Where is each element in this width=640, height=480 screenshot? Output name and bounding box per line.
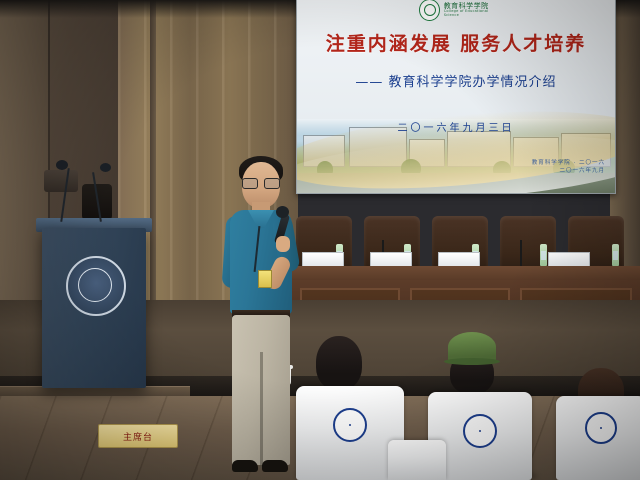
chair-crest-icon [585, 412, 617, 444]
speaker-person [214, 152, 306, 480]
table-microphone [520, 240, 522, 266]
photo-scene: 教育科学学院 College of Educational Science 注重… [0, 0, 640, 480]
slide-footer-line-2: 二〇一六年九月 [532, 167, 605, 175]
water-bottle [612, 244, 619, 266]
podium: 主席台 [42, 228, 146, 388]
audience-chair-cover [388, 440, 446, 480]
podium-nameplate: 主席台 [98, 424, 178, 448]
id-badge [258, 270, 272, 288]
door-frame [150, 0, 156, 318]
speaker-trouser-seam [260, 352, 263, 468]
speaker-shoe [262, 460, 288, 472]
water-bottle [540, 244, 547, 266]
university-emblem-icon [66, 256, 126, 316]
audience-chair-cover [556, 396, 640, 480]
projection-screen: 教育科学学院 College of Educational Science 注重… [296, 0, 616, 194]
slide-date: 二〇一六年九月三日 [297, 119, 615, 134]
audience-head [316, 336, 362, 390]
head-table-top [286, 266, 640, 280]
podium-microphone-icon [56, 160, 68, 170]
chair-crest-icon [333, 408, 367, 442]
handheld-microphone-head-icon [276, 206, 289, 218]
slide-logo: 教育科学学院 College of Educational Science [419, 0, 501, 21]
speaker-shoe [232, 460, 258, 472]
slide-logo-en: College of Educational Science [444, 10, 501, 18]
speaker-hand [276, 236, 290, 252]
podium-microphone-icon [100, 163, 111, 172]
college-seal-icon [419, 0, 440, 21]
slide-subtitle: —— 教育科学学院办学情况介绍 [297, 71, 615, 90]
slide-footer: 教育科学学院 · 二〇一六 二〇一六年九月 [532, 159, 605, 176]
slide-footer-line-1: 教育科学学院 · 二〇一六 [532, 159, 605, 167]
glasses-icon [242, 178, 280, 187]
chair-crest-icon [463, 414, 497, 448]
air-vent-icon [44, 170, 78, 192]
cap-icon [448, 332, 496, 362]
slide-headline: 注重内涵发展 服务人才培养 [297, 29, 615, 56]
